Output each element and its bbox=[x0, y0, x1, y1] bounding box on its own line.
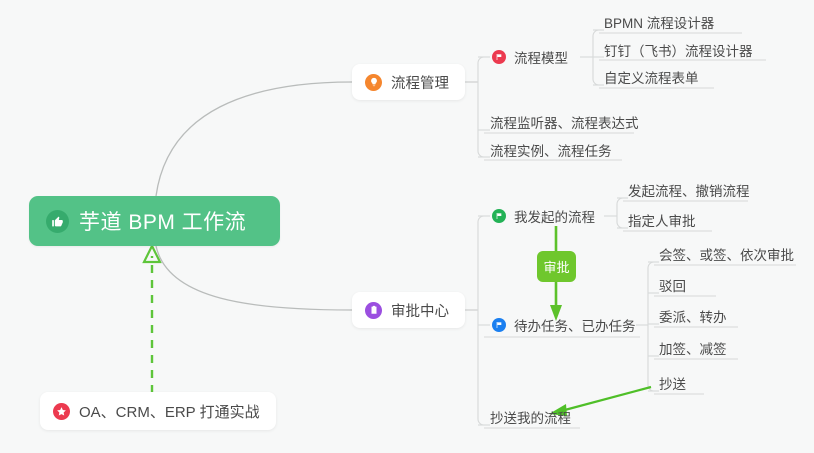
mindmap-canvas: 芋道 BPM 工作流 流程管理 流程模型 BPMN 流程设计器 钉钉（飞书）流程… bbox=[0, 0, 814, 453]
leaf-label: 加签、减签 bbox=[659, 338, 727, 358]
flag-icon-green bbox=[492, 209, 506, 223]
bracket-todo-done bbox=[648, 262, 654, 391]
thumbs-up-icon bbox=[46, 210, 69, 233]
root-label: 芋道 BPM 工作流 bbox=[79, 206, 246, 236]
wire-root-to-process-management bbox=[156, 82, 352, 196]
leaf-label: 抄送我的流程 bbox=[490, 407, 571, 427]
green-arrow-cc-shaft bbox=[561, 387, 651, 411]
node-label: 待办任务、已办任务 bbox=[514, 315, 636, 335]
root-node[interactable]: 芋道 BPM 工作流 bbox=[29, 196, 280, 246]
wire-root-to-approval-center bbox=[156, 246, 352, 310]
leaf-label: 会签、或签、依次审批 bbox=[659, 244, 794, 264]
leaf-instance-task[interactable]: 流程实例、流程任务 bbox=[490, 138, 612, 162]
bracket-process-management bbox=[478, 57, 484, 157]
node-label: 流程管理 bbox=[391, 72, 449, 93]
leaf-label: 流程实例、流程任务 bbox=[490, 140, 612, 160]
leaf-cc[interactable]: 抄送 bbox=[659, 371, 686, 395]
bracket-my-initiated bbox=[617, 198, 623, 228]
note-integration-practice[interactable]: OA、CRM、ERP 打通实战 bbox=[40, 392, 276, 430]
leaf-reject[interactable]: 驳回 bbox=[659, 273, 686, 297]
bracket-process-model bbox=[593, 30, 599, 85]
leaf-label: 抄送 bbox=[659, 373, 686, 393]
leaf-label: 发起流程、撤销流程 bbox=[628, 180, 750, 200]
leaf-cc-to-me[interactable]: 抄送我的流程 bbox=[490, 405, 571, 429]
leaf-label: 驳回 bbox=[659, 275, 686, 295]
note-label: OA、CRM、ERP 打通实战 bbox=[79, 401, 260, 422]
node-my-initiated[interactable]: 我发起的流程 bbox=[492, 204, 595, 228]
leaf-label: 流程监听器、流程表达式 bbox=[490, 112, 639, 132]
node-process-model[interactable]: 流程模型 bbox=[492, 45, 568, 69]
leaf-delegate-transfer[interactable]: 委派、转办 bbox=[659, 304, 727, 328]
leaf-listener-expression[interactable]: 流程监听器、流程表达式 bbox=[490, 110, 639, 134]
flag-icon-blue bbox=[492, 318, 506, 332]
leaf-add-remove-sign[interactable]: 加签、减签 bbox=[659, 336, 727, 360]
leaf-label: 自定义流程表单 bbox=[604, 67, 699, 87]
flag-icon-red bbox=[492, 50, 506, 64]
leaf-custom-form[interactable]: 自定义流程表单 bbox=[604, 65, 699, 89]
leaf-label: BPMN 流程设计器 bbox=[604, 12, 714, 32]
leaf-dingtalk-designer[interactable]: 钉钉（飞书）流程设计器 bbox=[604, 38, 753, 62]
node-todo-done[interactable]: 待办任务、已办任务 bbox=[492, 313, 636, 337]
leaf-label: 委派、转办 bbox=[659, 306, 727, 326]
clipboard-icon bbox=[365, 302, 382, 319]
leaf-assignee-approval[interactable]: 指定人审批 bbox=[628, 208, 696, 232]
dashed-arrow-head-up bbox=[144, 246, 160, 262]
node-process-management[interactable]: 流程管理 bbox=[352, 64, 465, 100]
leaf-countersign[interactable]: 会签、或签、依次审批 bbox=[659, 242, 794, 266]
node-label: 审批中心 bbox=[391, 300, 449, 321]
approval-badge-label: 审批 bbox=[543, 257, 569, 276]
leaf-label: 指定人审批 bbox=[628, 210, 696, 230]
lightbulb-icon bbox=[365, 74, 382, 91]
bracket-approval-center bbox=[478, 216, 484, 425]
leaf-bpmn-designer[interactable]: BPMN 流程设计器 bbox=[604, 10, 714, 34]
node-approval-center[interactable]: 审批中心 bbox=[352, 292, 465, 328]
star-icon bbox=[53, 403, 70, 420]
leaf-start-cancel[interactable]: 发起流程、撤销流程 bbox=[628, 178, 750, 202]
leaf-label: 钉钉（飞书）流程设计器 bbox=[604, 40, 753, 60]
node-label: 我发起的流程 bbox=[514, 206, 595, 226]
node-label: 流程模型 bbox=[514, 47, 568, 67]
approval-badge: 审批 bbox=[537, 251, 576, 282]
